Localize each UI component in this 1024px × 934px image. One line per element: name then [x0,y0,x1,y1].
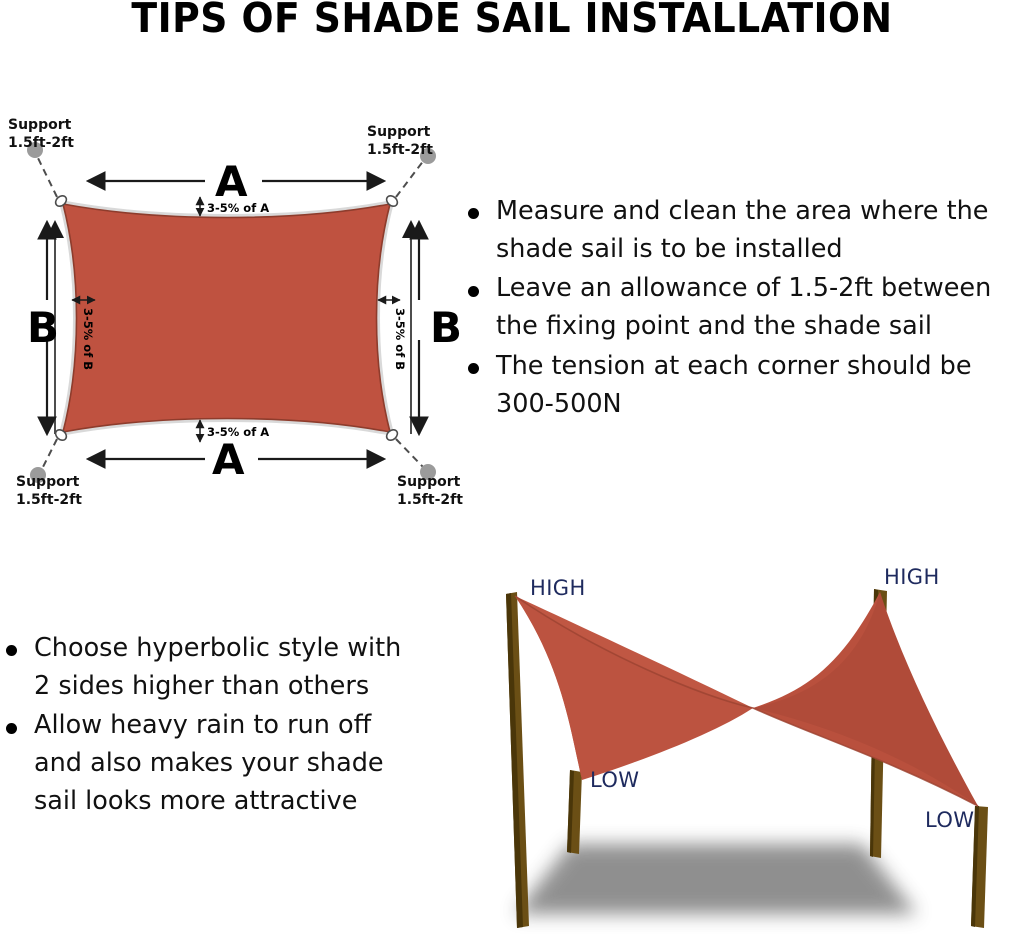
tips-list-top: Measure and clean the area where the sha… [462,193,1024,425]
list-item: Measure and clean the area where the sha… [462,193,1024,268]
dimension-b-left-label: B [27,303,59,352]
dimension-b-right-label: B [430,303,462,352]
bullet-line: Leave an allowance of 1.5-2ft between [496,270,1024,308]
label-low-left: LOW [590,768,639,792]
support-top-right-line2: 1.5ft-2ft [367,142,433,158]
label-high-left: HIGH [530,576,586,600]
support-top-left-line1: Support [8,117,72,133]
rectangle-sail-diagram: Support 1.5ft-2ft Support 1.5ft-2ft Supp… [0,104,470,524]
post-low-left-front [567,770,582,854]
support-bottom-left-line1: Support [16,474,80,490]
dimension-b-right: B [419,222,462,434]
tips-list-bottom-items: Choose hyperbolic style with 2 sides hig… [0,630,452,821]
curvature-a-bottom: 3-5% of A [200,420,269,442]
sail-lobe-left-lower [515,596,753,780]
label-high-right: HIGH [884,565,940,589]
bullet-line: Measure and clean the area where the [496,193,1024,231]
tips-list-top-items: Measure and clean the area where the sha… [462,193,1024,423]
hyperbolic-sail-illustration [470,548,1024,934]
list-item: The tension at each corner should be 300… [462,348,1024,423]
bullet-line: the fixing point and the shade sail [496,308,1024,346]
list-item: Leave an allowance of 1.5-2ft between th… [462,270,1024,345]
bullet-dot-icon [468,286,479,297]
curvature-a-top-label: 3-5% of A [207,201,269,215]
bullet-line: 300-500N [496,386,1024,424]
ground-shadow [515,844,917,914]
bullet-line: Allow heavy rain to run off [34,707,452,745]
dimension-a-top: A [88,157,384,206]
bullet-line: Choose hyperbolic style with [34,630,452,668]
bullet-line: shade sail is to be installed [496,231,1024,269]
bullet-dot-icon [6,723,17,734]
sail-fabric-rectangle [63,204,390,432]
tips-list-bottom: Choose hyperbolic style with 2 sides hig… [0,630,452,823]
dimension-a-top-label: A [215,157,248,206]
bullet-dot-icon [468,363,479,374]
bullet-dot-icon [468,208,479,219]
page-title: TIPS OF SHADE SAIL INSTALLATION [41,0,983,42]
dimension-a-bottom: A [88,435,384,484]
support-bottom-left-line2: 1.5ft-2ft [16,492,82,508]
curvature-b-left-label: 3-5% of B [81,308,95,370]
support-top-left-line2: 1.5ft-2ft [8,135,74,151]
list-item: Allow heavy rain to run off and also mak… [0,707,452,820]
curvature-b-right-label: 3-5% of B [393,308,407,370]
bullet-line: The tension at each corner should be [496,348,1024,386]
support-bottom-right-line1: Support [397,474,461,490]
post-high-left [506,592,529,928]
bullet-line: sail looks more attractive [34,783,452,821]
list-item: Choose hyperbolic style with 2 sides hig… [0,630,452,705]
bullet-line: and also makes your shade [34,745,452,783]
page-root: TIPS OF SHADE SAIL INSTALLATION [0,0,1024,934]
support-top-right-line1: Support [367,124,431,140]
bullet-line: 2 sides higher than others [34,668,452,706]
curvature-b-right: 3-5% of B [378,300,407,370]
dimension-a-bottom-label: A [212,435,245,484]
label-low-right: LOW [925,808,974,832]
curvature-a-bottom-label: 3-5% of A [207,425,269,439]
bullet-dot-icon [6,645,17,656]
support-bottom-right-line2: 1.5ft-2ft [397,492,463,508]
